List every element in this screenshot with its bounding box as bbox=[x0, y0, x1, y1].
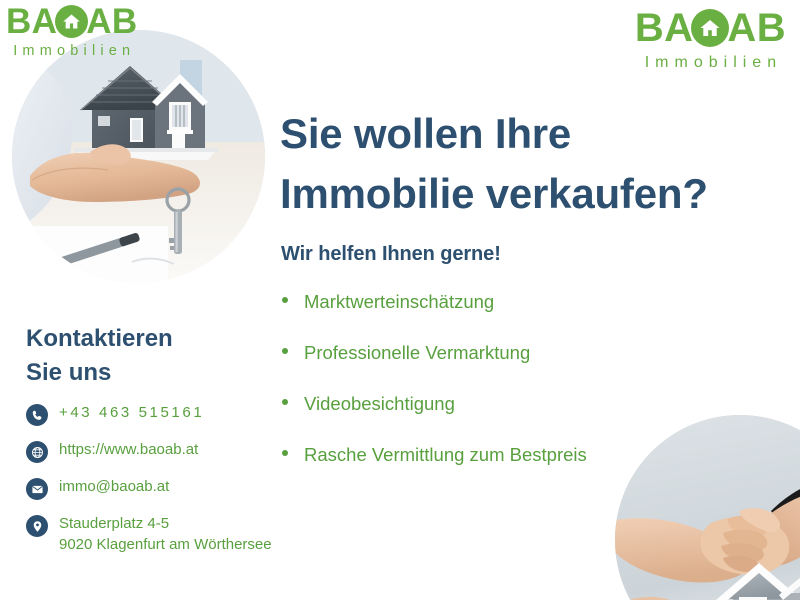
contact-row-email[interactable]: immo@baoab.at bbox=[26, 477, 336, 500]
house-icon bbox=[691, 9, 729, 47]
map-pin-icon bbox=[26, 515, 48, 537]
headline-block: Sie wollen Ihre Immobilie verkaufen? bbox=[280, 104, 780, 223]
address-line-2: 9020 Klagenfurt am Wörthersee bbox=[59, 535, 272, 556]
logo-tagline: Immobilien bbox=[8, 44, 135, 59]
contact-heading-line-2: Sie uns bbox=[26, 356, 336, 390]
photo-hand-holding-house bbox=[12, 30, 265, 283]
bullet-dot-icon bbox=[282, 297, 288, 303]
house-icon bbox=[55, 5, 88, 38]
benefit-label: Rasche Vermittlung zum Bestpreis bbox=[304, 446, 587, 465]
map-pin-icon-glyph bbox=[31, 520, 44, 533]
logo-wordmark: BA AB bbox=[635, 8, 786, 48]
flyer-canvas: BA AB Immobilien BA AB Immobilien bbox=[0, 0, 800, 600]
contact-email-value: immo@baoab.at bbox=[59, 477, 169, 498]
photo-handshake-over-house bbox=[615, 415, 800, 600]
contact-row-phone[interactable]: +43 463 515161 bbox=[26, 403, 336, 426]
logo-top-left: BA AB Immobilien bbox=[6, 4, 138, 59]
mail-icon-glyph bbox=[31, 483, 44, 496]
benefit-label: Marktwerteinschätzung bbox=[304, 293, 494, 312]
phone-icon bbox=[26, 404, 48, 426]
contact-row-address[interactable]: Stauderplatz 4-5 9020 Klagenfurt am Wört… bbox=[26, 514, 336, 555]
logo-text-part2: AB bbox=[86, 4, 137, 39]
contact-row-website[interactable]: https://www.baoab.at bbox=[26, 440, 336, 463]
contact-website-value: https://www.baoab.at bbox=[59, 440, 198, 461]
headline-line-1: Sie wollen Ihre bbox=[280, 104, 780, 164]
contact-address-value: Stauderplatz 4-5 9020 Klagenfurt am Wört… bbox=[59, 514, 272, 555]
contact-list: +43 463 515161 https://www.baoab.at bbox=[26, 403, 336, 555]
globe-icon bbox=[26, 441, 48, 463]
logo-wordmark: BA AB bbox=[6, 4, 138, 39]
logo-tagline: Immobilien bbox=[639, 55, 782, 71]
benefit-label: Professionelle Vermarktung bbox=[304, 344, 530, 363]
logo-text-part2: AB bbox=[727, 8, 786, 48]
globe-icon-glyph bbox=[31, 446, 44, 459]
house-icon-glyph bbox=[61, 11, 82, 32]
address-line-1: Stauderplatz 4-5 bbox=[59, 514, 272, 535]
logo-text-part1: BA bbox=[6, 4, 57, 39]
logo-top-right: BA AB Immobilien bbox=[635, 8, 786, 71]
headline-line-2: Immobilie verkaufen? bbox=[280, 164, 780, 224]
hand-holding-house-illustration bbox=[12, 30, 265, 283]
handshake-illustration bbox=[615, 415, 800, 600]
contact-block: Kontaktieren Sie uns +43 463 515161 bbox=[26, 322, 336, 570]
phone-icon-glyph bbox=[31, 409, 44, 422]
mail-icon bbox=[26, 478, 48, 500]
subheadline: Wir helfen Ihnen gerne! bbox=[281, 243, 501, 266]
contact-phone-value: +43 463 515161 bbox=[59, 403, 204, 424]
house-icon-glyph bbox=[698, 16, 722, 40]
logo-text-part1: BA bbox=[635, 8, 694, 48]
contact-heading-line-1: Kontaktieren bbox=[26, 322, 336, 356]
